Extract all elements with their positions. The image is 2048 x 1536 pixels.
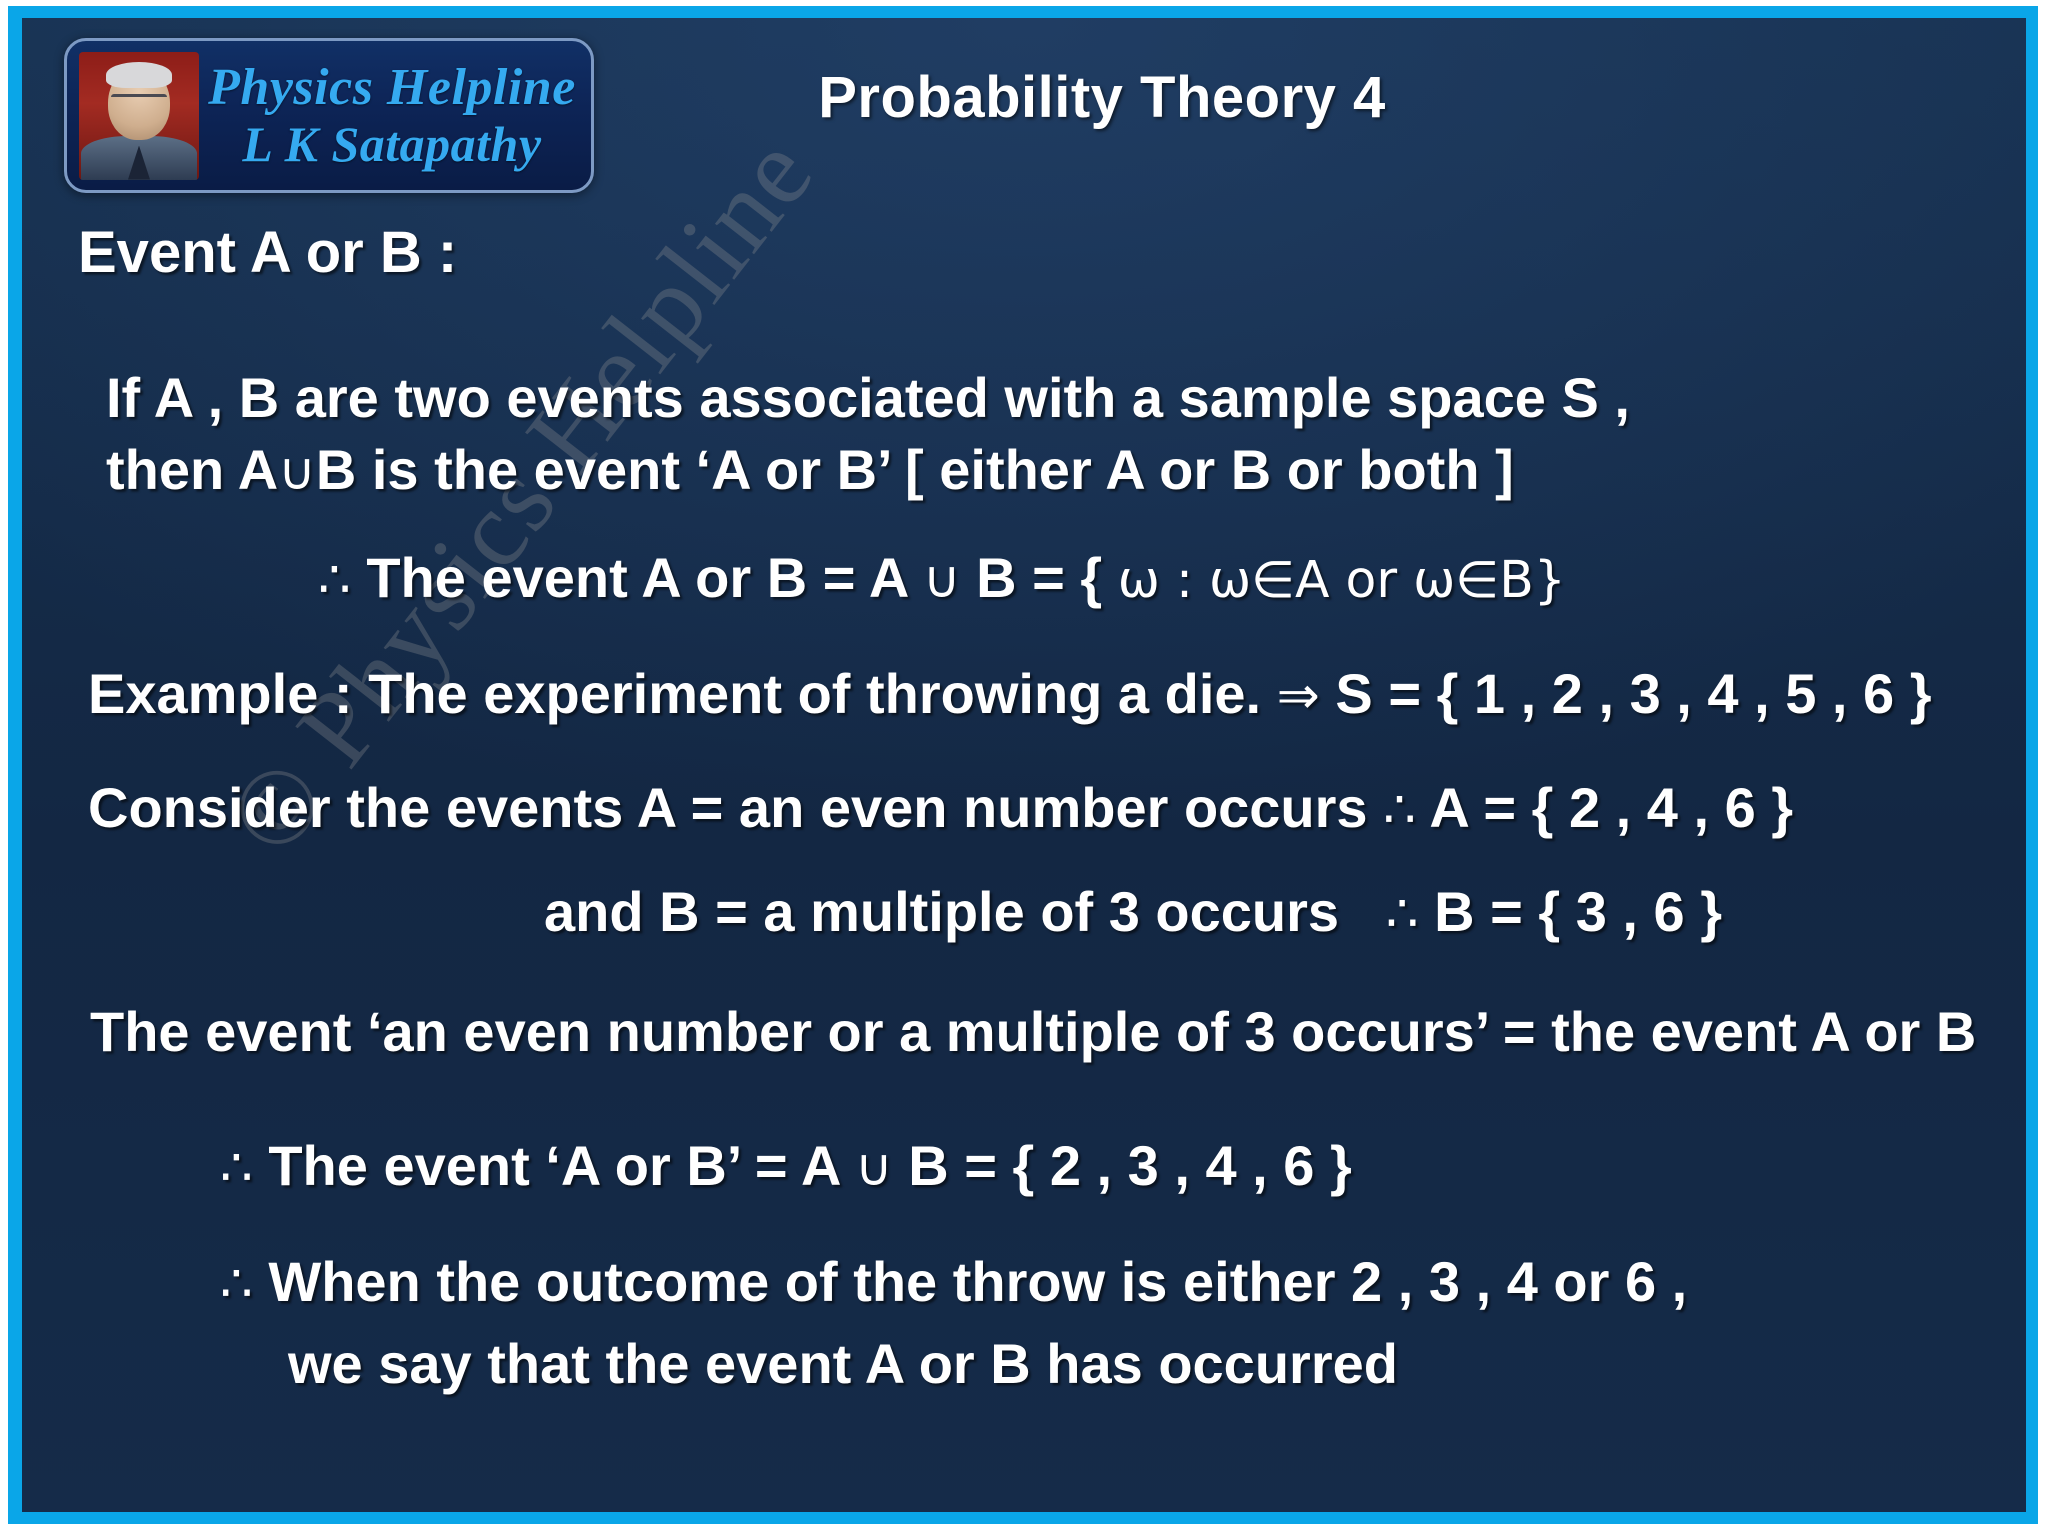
- therefore-result-line: ∴ The event ‘A or B’ = A ∪ B = { 2 , 3 ,…: [220, 1138, 1352, 1195]
- event-b-set: B = { 3 , 6 }: [1434, 880, 1722, 943]
- slide-board: © Physics Helpline Physics Helpline L K …: [22, 18, 2026, 1512]
- slide-root: © Physics Helpline Physics Helpline L K …: [0, 0, 2048, 1536]
- andb-text-pre: and B = a multiple of 3 occurs: [544, 880, 1339, 943]
- then-text-post: B is the event ‘A or B’ [ either A or B …: [316, 438, 1514, 501]
- consider-text-pre: Consider the events A = an even number o…: [88, 776, 1368, 839]
- therefore-icon: ∴: [220, 1254, 253, 1314]
- result-set: B = { 2 , 3 , 4 , 6 }: [908, 1134, 1352, 1197]
- conclusion-continuation-line: we say that the event A or B has occurre…: [288, 1336, 1398, 1392]
- statement-if-line: If A , B are two events associated with …: [106, 370, 1630, 426]
- section-heading: Event A or B :: [78, 224, 457, 282]
- union-symbol: ∪: [923, 550, 961, 610]
- if-text: If A , B are two events associated with …: [106, 366, 1630, 429]
- therefore-icon: ∴: [1386, 884, 1419, 944]
- example-line: Example : The experiment of throwing a d…: [88, 666, 1932, 723]
- therefore-icon: ∴: [1383, 780, 1416, 840]
- slide-body: Event A or B : If A , B are two events a…: [22, 18, 2026, 1512]
- implies-arrow-icon: ⇒: [1277, 666, 1320, 726]
- then-text-pre: then A: [106, 438, 278, 501]
- event-a-set: A = { 2 , 4 , 6 }: [1429, 776, 1793, 839]
- therefore1-text: The event A or B = A: [366, 546, 907, 609]
- therefore1-equals: = {: [1032, 546, 1102, 609]
- example-text-pre: Example : The experiment of throwing a d…: [88, 662, 1261, 725]
- statement-then-line: then A∪B is the event ‘A or B’ [ either …: [106, 442, 1514, 499]
- therefore-event-union-line: ∴ The event A or B = A ∪ B = { ω : ω∈A o…: [318, 550, 1566, 607]
- therefore1-b: B: [976, 546, 1016, 609]
- therefore2-text: The event ‘A or B’ = A: [268, 1134, 839, 1197]
- consider-events-line: Consider the events A = an even number o…: [88, 780, 1793, 837]
- event-b-definition-line: and B = a multiple of 3 occurs ∴ B = { 3…: [544, 884, 1722, 941]
- example-sample-space: S = { 1 , 2 , 3 , 4 , 5 , 6 }: [1335, 662, 1931, 725]
- therefore-conclusion-line: ∴ When the outcome of the throw is eithe…: [220, 1254, 1687, 1311]
- set-builder-expression: ω : ω∈A or ω∈B}: [1118, 550, 1566, 609]
- conclusion-text: When the outcome of the throw is either …: [268, 1250, 1687, 1313]
- union-symbol: ∪: [855, 1138, 893, 1198]
- therefore-icon: ∴: [318, 550, 351, 610]
- event-a-or-b-description-line: The event ‘an even number or a multiple …: [90, 1004, 1976, 1060]
- therefore-icon: ∴: [220, 1138, 253, 1198]
- union-symbol: ∪: [278, 442, 316, 502]
